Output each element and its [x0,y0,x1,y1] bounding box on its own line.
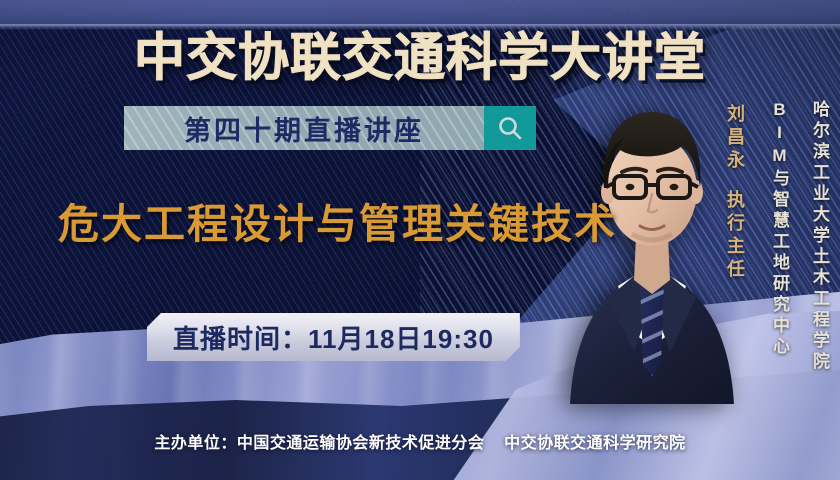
episode-label: 第四十期直播讲座 [184,109,424,148]
speaker-role: 执行主任 [722,190,748,282]
page-title: 中交协联交通科学大讲堂 [0,16,840,90]
speaker-name: 刘昌永 [722,104,748,173]
broadcast-time-text: 直播时间：11月18日19:30 [173,319,494,356]
episode-banner-body: 第四十期直播讲座 [124,106,484,150]
speaker-org-sub: BIM与智慧工地研究中心 [767,100,792,358]
broadcast-time-chip: 直播时间：11月18日19:30 [147,313,520,361]
episode-banner: 第四十期直播讲座 [124,106,536,150]
lecture-title: 危大工程设计与管理关键技术 [58,190,617,250]
live-lecture-poster: 中交协联交通科学大讲堂 第四十期直播讲座 危大工程设计与管理关键技术 直播时间：… [0,0,840,480]
footer: 主办单位：中国交通运输协会新技术促进分会 中交协联交通科学研究院 [0,429,840,453]
search-icon-box[interactable] [484,106,536,150]
search-icon [496,114,524,142]
footer-organizers: 主办单位：中国交通运输协会新技术促进分会 中交协联交通科学研究院 [154,429,685,453]
speaker-org-main: 哈尔滨工业大学土木工程学院 [807,100,832,373]
